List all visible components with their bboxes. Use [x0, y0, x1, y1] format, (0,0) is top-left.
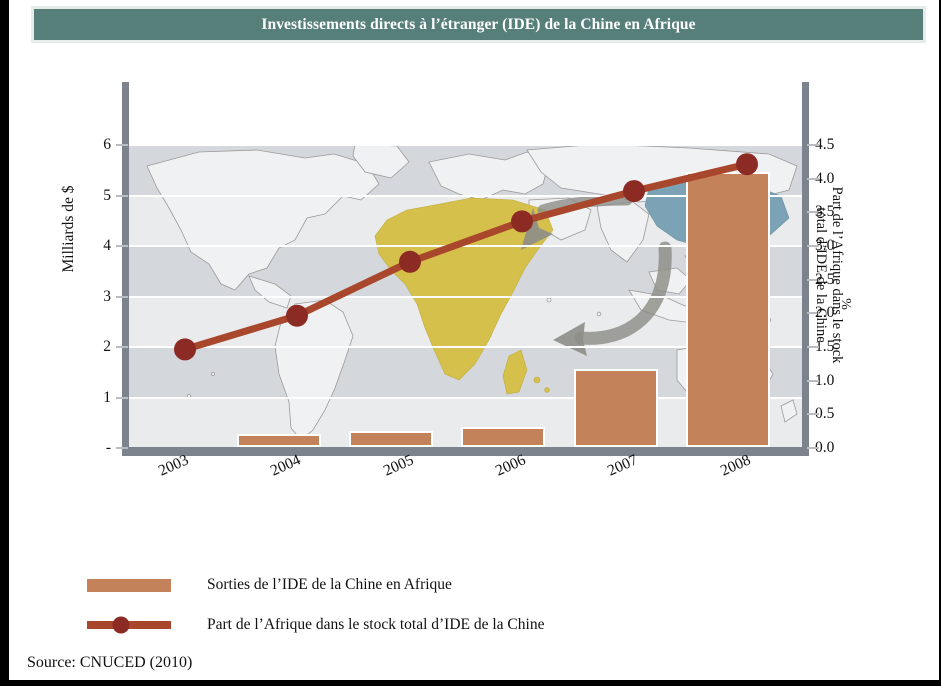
- y-axis-title-right: Part de l’Afrique dans le stock total d’…: [813, 180, 845, 370]
- legend-label-bars: Sorties de l’IDE de la Chine en Afrique: [207, 576, 452, 594]
- legend-marker-dot: [113, 617, 130, 634]
- page-title: Investissements directs à l’étranger (ID…: [261, 16, 695, 34]
- chart-page: Investissements directs à l’étranger (ID…: [0, 0, 941, 686]
- source-note: Source: CNUCED (2010): [27, 654, 192, 672]
- y-axis-tick-right: 4.5: [815, 136, 859, 154]
- legend-swatch-bar: [79, 575, 179, 595]
- legend-item-line: Part de l’Afrique dans le stock total d’…: [79, 605, 779, 645]
- plot-area: [129, 144, 802, 447]
- chart-legend: Sorties de l’IDE de la Chine en Afrique …: [79, 565, 779, 645]
- y-axis-title-left: Milliards de $: [60, 129, 78, 329]
- y-axis-tick-right: 0.5: [815, 405, 859, 423]
- line-series: [129, 144, 802, 447]
- y-axis-tick-right: 0.0: [815, 439, 859, 457]
- chart-canvas: 6 5 4 3 2 1 - 4.5 4.0 3.5 3.0 2.5 2.0 1.…: [9, 60, 939, 530]
- bottom-axis-spine: [122, 447, 809, 456]
- legend-swatch-line: [79, 615, 179, 635]
- right-axis-spine: [802, 82, 809, 452]
- y-axis-tick-left: 2: [67, 338, 111, 356]
- legend-label-line: Part de l’Afrique dans le stock total d’…: [207, 616, 544, 634]
- y-axis-tick-left: -: [67, 439, 111, 457]
- chart-title-bar: Investissements directs à l’étranger (ID…: [31, 6, 926, 43]
- legend-item-bars: Sorties de l’IDE de la Chine en Afrique: [79, 565, 779, 605]
- y-axis-tick-left: 1: [67, 389, 111, 407]
- y-axis-tick-right: 1.0: [815, 372, 859, 390]
